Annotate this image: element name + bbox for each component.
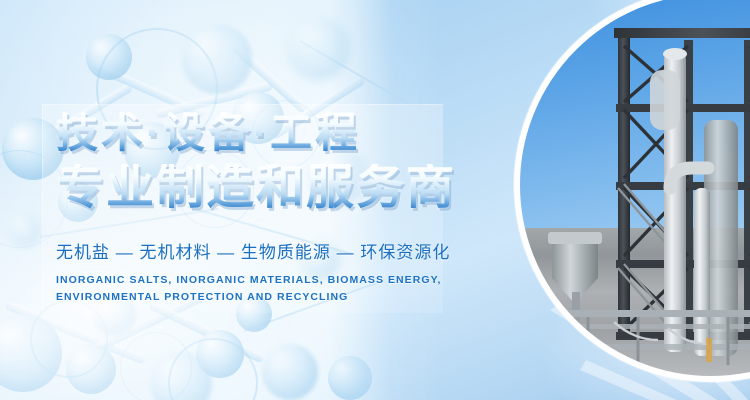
promo-banner: 技术·设备·工程 专业制造和服务商 无机盐 — 无机材料 — 生物质能源 — 环…	[0, 0, 750, 400]
copy-block: 技术·设备·工程 专业制造和服务商 无机盐 — 无机材料 — 生物质能源 — 环…	[56, 112, 486, 307]
headline-line-2: 专业制造和服务商	[56, 164, 486, 212]
subtitle-chinese: 无机盐 — 无机材料 — 生物质能源 — 环保资源化	[56, 238, 486, 263]
headline-line-1: 技术·设备·工程	[56, 112, 486, 154]
subtitle-english: INORGANIC SALTS, INORGANIC MATERIALS, BI…	[56, 272, 454, 307]
